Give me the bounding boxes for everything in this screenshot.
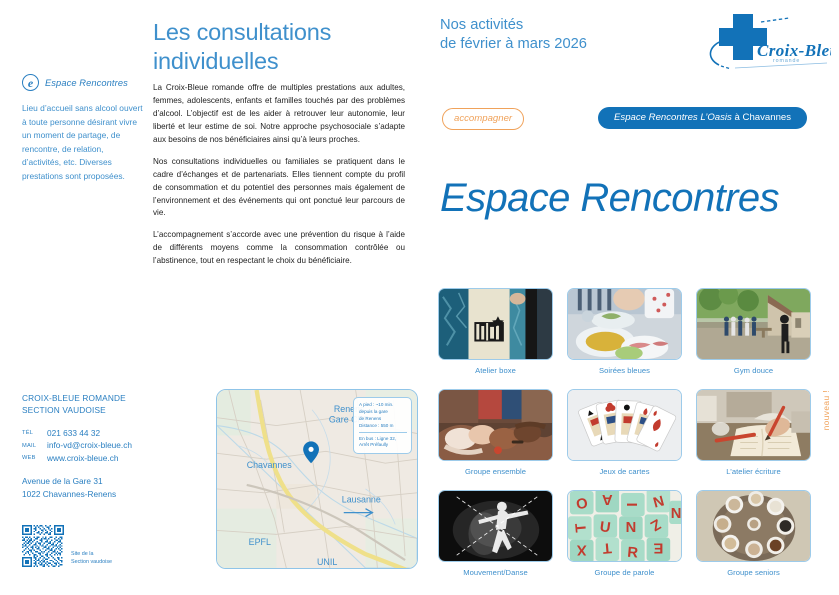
map-info-walk-line1: A pied : ~10 min. — [359, 402, 407, 409]
activity-card-cartes[interactable]: Jeux de cartes — [567, 389, 682, 484]
contact-key-web: WEB — [22, 452, 47, 464]
qr-code-block[interactable]: Site de la Section vaudoise — [22, 525, 112, 567]
activity-thumb-parole[interactable]: O A I N T U N Z X T R E N — [567, 490, 682, 562]
svg-text:X: X — [577, 541, 587, 557]
soirees-photo — [568, 289, 681, 359]
nouveau-badge: nouveau ! — [821, 390, 831, 430]
activity-card-ecriture[interactable]: L’atelier écriture — [696, 389, 811, 484]
svg-text:I: I — [623, 503, 639, 507]
map-info-distance: Distance : 550 m — [359, 423, 407, 430]
activity-thumb-ensemble[interactable] — [438, 389, 553, 461]
contact-key-tel: TÉL — [22, 427, 47, 439]
address-line1: Avenue de la Gare 31 — [22, 475, 152, 487]
map-label-epfl: EPFL — [249, 537, 271, 547]
kicker-heading: Nos activités de février à mars 2026 — [440, 16, 680, 55]
activity-caption-cartes: Jeux de cartes — [567, 467, 682, 476]
svg-text:N: N — [626, 518, 637, 534]
activity-thumb-boxe[interactable] — [438, 288, 553, 360]
sidebar-description: Lieu d’accueil sans alcool ouvert à tout… — [22, 102, 144, 184]
activity-thumb-gym[interactable] — [696, 288, 811, 360]
location-map[interactable]: Renens Gare CFF Chavannes Lausanne EPFL … — [216, 389, 418, 569]
svg-text:T: T — [602, 539, 612, 556]
boxe-photo — [439, 289, 552, 359]
logo-romande-subtitle: romande — [773, 58, 800, 64]
activity-caption-boxe: Atelier boxe — [438, 366, 553, 375]
page-title-line1: Les consultations — [153, 18, 415, 47]
activities-row-3: Mouvement/Danse O A I N T U N Z X — [438, 490, 812, 585]
map-info-box: A pied : ~10 min. depuis la gare de Rene… — [353, 397, 412, 454]
gym-photo — [697, 289, 810, 359]
croix-bleue-cross-icon: Croix-Bleue — [695, 12, 831, 74]
activity-card-boxe[interactable]: Atelier boxe — [438, 288, 553, 383]
contact-row-mail: MAIL info-vd@croix-bleue.ch — [22, 439, 152, 451]
map-info-walk-line2: depuis la gare — [359, 409, 407, 416]
activity-caption-seniors: Groupe seniors — [696, 568, 811, 577]
page-title-line2: individuelles — [153, 47, 415, 76]
body-paragraph-3: L’accompagnement s’accorde avec une prév… — [153, 229, 405, 268]
qr-code-icon[interactable] — [22, 525, 64, 567]
qr-caption: Site de la Section vaudoise — [71, 550, 112, 567]
activity-thumb-danse[interactable] — [438, 490, 553, 562]
espace-rencontres-e-icon: e — [22, 74, 39, 91]
activity-thumb-seniors[interactable] — [696, 490, 811, 562]
svg-text:N: N — [671, 506, 681, 522]
map-info-walk: A pied : ~10 min. depuis la gare de Rene… — [359, 402, 407, 430]
map-info-walk-line3: de Renens — [359, 416, 407, 423]
map-label-lausanne: Lausanne — [342, 495, 381, 505]
org-name-line2: SECTION VAUDOISE — [22, 404, 152, 416]
espace-rencontres-label: Espace Rencontres — [45, 78, 128, 88]
ensemble-photo — [439, 390, 552, 460]
map-info-divider — [359, 432, 407, 433]
kicker-line1: Nos activités — [440, 16, 680, 35]
address-block: Avenue de la Gare 31 1022 Chavannes-Rene… — [22, 475, 152, 500]
croix-bleue-logo: Croix-Bleue romande — [695, 12, 831, 74]
org-name-line1: CROIX-BLEUE ROMANDE — [22, 392, 152, 404]
activity-card-gym[interactable]: Gym douce — [696, 288, 811, 383]
address-line2: 1022 Chavannes-Renens — [22, 488, 152, 500]
svg-text:U: U — [599, 519, 612, 536]
activity-caption-ecriture: L’atelier écriture — [696, 467, 811, 476]
activity-thumb-ecriture[interactable] — [696, 389, 811, 461]
map-info-bus-line1: En bus : Ligne 32, — [359, 436, 407, 443]
activity-caption-danse: Mouvement/Danse — [438, 568, 553, 577]
activity-caption-ensemble: Groupe ensemble — [438, 467, 553, 476]
tag-accompagner[interactable]: accompagner — [442, 108, 524, 130]
tag-oasis-italic-part: Espace Rencontres L’Oasis — [614, 112, 732, 123]
danse-photo — [439, 491, 552, 561]
map-info-bus-line2: Arrêt Préfaully — [359, 442, 407, 449]
page-title: Les consultations individuelles — [153, 18, 415, 76]
seniors-photo — [697, 491, 810, 561]
activity-card-danse[interactable]: Mouvement/Danse — [438, 490, 553, 585]
map-label-chavannes: Chavannes — [247, 460, 293, 470]
svg-text:A: A — [602, 491, 613, 507]
activities-row-2: Groupe ensemble — [438, 389, 812, 484]
activity-card-ensemble[interactable]: Groupe ensemble — [438, 389, 553, 484]
activity-caption-gym: Gym douce — [696, 366, 811, 375]
cartes-photo — [568, 390, 681, 460]
body-copy: La Croix-Bleue romande offre de multiple… — [153, 82, 405, 277]
tag-oasis-rest-part: à Chavannes — [732, 112, 791, 123]
contact-block: CROIX-BLEUE ROMANDE SECTION VAUDOISE TÉL… — [22, 392, 152, 500]
left-sidebar: e Espace Rencontres Lieu d’accueil sans … — [0, 0, 150, 595]
activities-grid: Atelier boxe — [438, 288, 812, 591]
tag-espace-rencontres-oasis[interactable]: Espace Rencontres L’Oasis à Chavannes — [598, 107, 807, 129]
contact-rows: TÉL 021 633 44 32 MAIL info-vd@croix-ble… — [22, 427, 152, 464]
contact-row-web: WEB www.croix-bleue.ch — [22, 452, 152, 464]
contact-value-mail[interactable]: info-vd@croix-bleue.ch — [47, 439, 132, 451]
map-info-bus: En bus : Ligne 32, Arrêt Préfaully — [359, 436, 407, 450]
activities-row-1: Atelier boxe — [438, 288, 812, 383]
activity-card-seniors[interactable]: Groupe seniors — [696, 490, 811, 585]
activity-caption-soirees: Soirées bleues — [567, 366, 682, 375]
kicker-line2: de février à mars 2026 — [440, 35, 680, 54]
body-paragraph-1: La Croix-Bleue romande offre de multiple… — [153, 82, 405, 147]
hero-title: Espace Rencontres — [440, 178, 779, 218]
activity-card-parole[interactable]: O A I N T U N Z X T R E N — [567, 490, 682, 585]
svg-text:E: E — [653, 540, 663, 556]
activity-thumb-soirees[interactable] — [567, 288, 682, 360]
qr-caption-line2: Section vaudoise — [71, 558, 112, 566]
parole-photo: O A I N T U N Z X T R E N — [568, 491, 681, 561]
activity-thumb-cartes[interactable] — [567, 389, 682, 461]
svg-text:T: T — [573, 523, 590, 533]
contact-value-web[interactable]: www.croix-bleue.ch — [47, 452, 118, 464]
qr-caption-line1: Site de la — [71, 550, 112, 558]
espace-rencontres-badge: e Espace Rencontres — [22, 74, 128, 91]
contact-key-mail: MAIL — [22, 439, 47, 451]
activity-caption-parole: Groupe de parole — [567, 568, 682, 577]
body-paragraph-2: Nos consultations individuelles ou famil… — [153, 156, 405, 221]
svg-text:R: R — [627, 545, 639, 561]
activity-card-soirees[interactable]: Soirées bleues — [567, 288, 682, 383]
map-label-unil: UNIL — [317, 557, 337, 567]
middle-column: Les consultations individuelles La Croix… — [150, 0, 420, 595]
contact-value-tel[interactable]: 021 633 44 32 — [47, 427, 100, 439]
contact-row-tel: TÉL 021 633 44 32 — [22, 427, 152, 439]
ecriture-photo — [697, 390, 810, 460]
